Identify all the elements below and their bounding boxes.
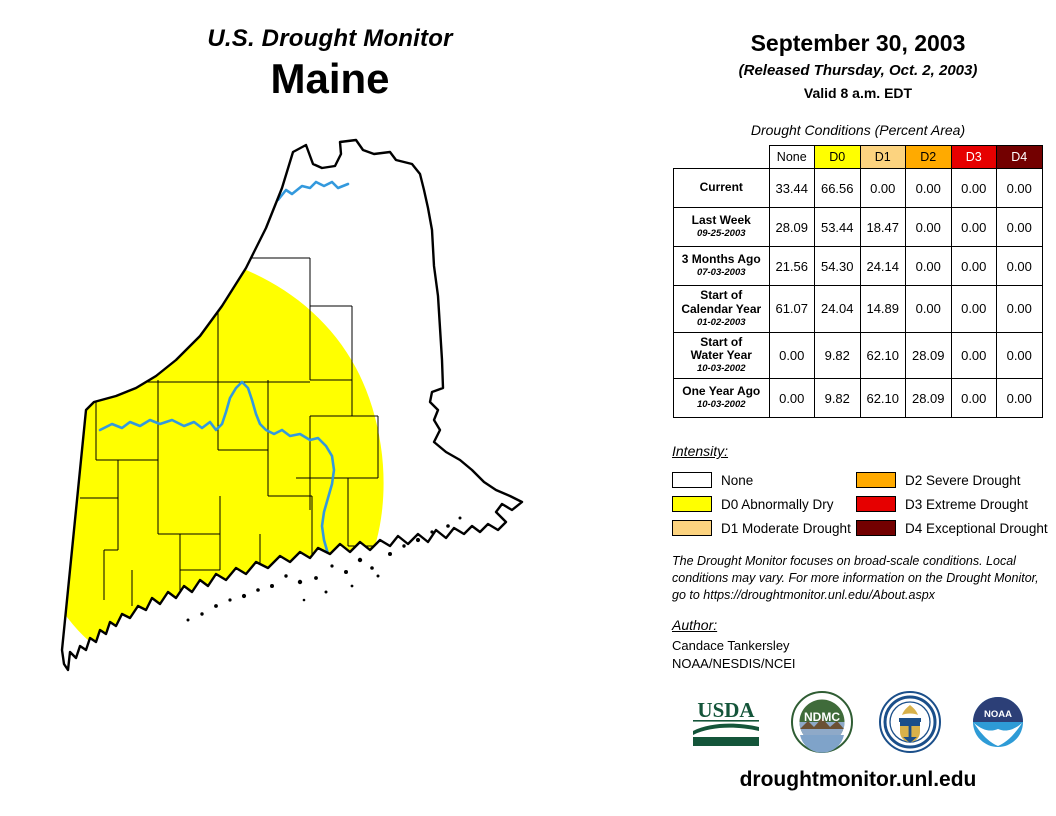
table-header-row: None D0 D1 D2 D3 D4	[674, 146, 1043, 169]
row-label-start-water-year: Start ofWater Year 10-03-2002	[674, 332, 770, 379]
row-label-date: 07-03-2003	[676, 268, 767, 279]
legend-item-d3: D3 Extreme Drought	[856, 492, 1040, 516]
drought-monitor-page: U.S. Drought Monitor Maine	[0, 0, 1056, 816]
intensity-legend-title: Intensity:	[672, 443, 728, 459]
release-date: (Released Thursday, Oct. 2, 2003)	[660, 62, 1056, 79]
cell-3mo-d3: 0.00	[951, 247, 997, 286]
title-block: U.S. Drought Monitor Maine	[0, 26, 660, 103]
legend-label-d3: D3 Extreme Drought	[905, 497, 1028, 512]
legend-item-d2: D2 Severe Drought	[856, 468, 1040, 492]
map-svg	[60, 130, 660, 810]
cell-3mo-d4: 0.00	[997, 247, 1043, 286]
author-affiliation: NOAA/NESDIS/NCEI	[672, 655, 796, 673]
row-label-text: Start ofWater Year	[691, 335, 752, 363]
legend-label-d1: D1 Moderate Drought	[721, 521, 851, 536]
column-header-d4: D4	[997, 146, 1043, 169]
row-label-last-week: Last Week 09-25-2003	[674, 208, 770, 247]
cell-water-d2: 28.09	[906, 332, 952, 379]
ndmc-logo[interactable]: NDMC	[791, 691, 853, 758]
swatch-d3-icon	[856, 496, 896, 512]
cell-3mo-none: 21.56	[769, 247, 815, 286]
cell-1yr-none: 0.00	[769, 379, 815, 418]
cell-1yr-d4: 0.00	[997, 379, 1043, 418]
row-label-three-months-ago: 3 Months Ago 07-03-2003	[674, 247, 770, 286]
cell-last-week-d4: 0.00	[997, 208, 1043, 247]
column-header-none: None	[769, 146, 815, 169]
row-label-text: Current	[700, 180, 743, 194]
valid-time: Valid 8 a.m. EDT	[660, 85, 1056, 101]
cell-1yr-d0: 9.82	[815, 379, 861, 418]
disclaimer-text: The Drought Monitor focuses on broad-sca…	[672, 553, 1052, 604]
column-header-d2: D2	[906, 146, 952, 169]
legend-item-d1: D1 Moderate Drought	[672, 516, 856, 540]
cell-1yr-d1: 62.10	[860, 379, 906, 418]
table-row: Last Week 09-25-2003 28.09 53.44 18.47 0…	[674, 208, 1043, 247]
legend-label-d0: D0 Abnormally Dry	[721, 497, 834, 512]
row-label-text: Last Week	[692, 213, 751, 227]
noaa-logo[interactable]: NOAA	[967, 691, 1029, 758]
cell-3mo-d2: 0.00	[906, 247, 952, 286]
svg-text:NDMC: NDMC	[804, 710, 840, 724]
commerce-seal-logo[interactable]	[879, 691, 941, 758]
table-caption: Drought Conditions (Percent Area)	[660, 122, 1056, 138]
legend-label-d4: D4 Exceptional Drought	[905, 521, 1048, 536]
cell-cal-d2: 0.00	[906, 286, 952, 333]
cell-last-week-d1: 18.47	[860, 208, 906, 247]
column-header-d1: D1	[860, 146, 906, 169]
cell-current-d0: 66.56	[815, 169, 861, 208]
drought-conditions-table: None D0 D1 D2 D3 D4 Current 33.44 66.56 …	[673, 145, 1043, 418]
usda-logo[interactable]: USDA	[687, 695, 765, 754]
table-row: Start ofWater Year 10-03-2002 0.00 9.82 …	[674, 332, 1043, 379]
cell-last-week-none: 28.09	[769, 208, 815, 247]
table-row: Start ofCalendar Year 01-02-2003 61.07 2…	[674, 286, 1043, 333]
cell-water-d1: 62.10	[860, 332, 906, 379]
row-label-date: 09-25-2003	[676, 229, 767, 240]
author-heading: Author:	[672, 617, 717, 633]
cell-1yr-d3: 0.00	[951, 379, 997, 418]
swatch-none-icon	[672, 472, 712, 488]
cell-water-none: 0.00	[769, 332, 815, 379]
column-header-d0: D0	[815, 146, 861, 169]
cell-cal-d4: 0.00	[997, 286, 1043, 333]
cell-water-d4: 0.00	[997, 332, 1043, 379]
svg-text:NOAA: NOAA	[984, 709, 1012, 720]
page-title: U.S. Drought Monitor	[0, 26, 660, 52]
cell-cal-d3: 0.00	[951, 286, 997, 333]
row-label-current: Current	[674, 169, 770, 208]
legend-column-left: None D0 Abnormally Dry D1 Moderate Droug…	[672, 468, 856, 540]
cell-3mo-d0: 54.30	[815, 247, 861, 286]
cell-water-d0: 9.82	[815, 332, 861, 379]
author-block: Candace Tankersley NOAA/NESDIS/NCEI	[672, 637, 796, 672]
logo-row: USDA NDMC	[660, 688, 1056, 760]
table-row: One Year Ago 10-03-2002 0.00 9.82 62.10 …	[674, 379, 1043, 418]
row-label-text: Start ofCalendar Year	[681, 288, 761, 316]
report-date: September 30, 2003	[660, 30, 1056, 57]
site-url[interactable]: droughtmonitor.unl.edu	[660, 768, 1056, 792]
maine-drought-map[interactable]	[60, 130, 660, 810]
swatch-d4-icon	[856, 520, 896, 536]
author-name: Candace Tankersley	[672, 637, 796, 655]
legend-label-d2: D2 Severe Drought	[905, 473, 1021, 488]
swatch-d0-icon	[672, 496, 712, 512]
cell-1yr-d2: 28.09	[906, 379, 952, 418]
cell-cal-none: 61.07	[769, 286, 815, 333]
row-label-date: 01-02-2003	[676, 318, 767, 329]
table-body: Current 33.44 66.56 0.00 0.00 0.00 0.00 …	[674, 169, 1043, 418]
state-title: Maine	[0, 56, 660, 102]
cell-last-week-d3: 0.00	[951, 208, 997, 247]
table-row: Current 33.44 66.56 0.00 0.00 0.00 0.00	[674, 169, 1043, 208]
cell-3mo-d1: 24.14	[860, 247, 906, 286]
row-label-start-calendar-year: Start ofCalendar Year 01-02-2003	[674, 286, 770, 333]
cell-current-none: 33.44	[769, 169, 815, 208]
row-label-date: 10-03-2002	[676, 364, 767, 375]
table-header: None D0 D1 D2 D3 D4	[674, 146, 1043, 169]
swatch-d1-icon	[672, 520, 712, 536]
svg-text:USDA: USDA	[697, 698, 755, 722]
legend-item-d0: D0 Abnormally Dry	[672, 492, 856, 516]
swatch-d2-icon	[856, 472, 896, 488]
intensity-legend: None D0 Abnormally Dry D1 Moderate Droug…	[672, 468, 1040, 542]
legend-item-d4: D4 Exceptional Drought	[856, 516, 1040, 540]
cell-current-d3: 0.00	[951, 169, 997, 208]
table-corner-cell	[674, 146, 770, 169]
cell-cal-d0: 24.04	[815, 286, 861, 333]
legend-label-none: None	[721, 473, 753, 488]
row-label-one-year-ago: One Year Ago 10-03-2002	[674, 379, 770, 418]
cell-last-week-d0: 53.44	[815, 208, 861, 247]
row-label-text: 3 Months Ago	[682, 252, 761, 266]
column-header-d3: D3	[951, 146, 997, 169]
cell-water-d3: 0.00	[951, 332, 997, 379]
table-row: 3 Months Ago 07-03-2003 21.56 54.30 24.1…	[674, 247, 1043, 286]
cell-current-d2: 0.00	[906, 169, 952, 208]
row-label-text: One Year Ago	[682, 384, 760, 398]
legend-column-right: D2 Severe Drought D3 Extreme Drought D4 …	[856, 468, 1040, 540]
cell-cal-d1: 14.89	[860, 286, 906, 333]
legend-item-none: None	[672, 468, 856, 492]
row-label-date: 10-03-2002	[676, 400, 767, 411]
cell-last-week-d2: 0.00	[906, 208, 952, 247]
cell-current-d1: 0.00	[860, 169, 906, 208]
cell-current-d4: 0.00	[997, 169, 1043, 208]
